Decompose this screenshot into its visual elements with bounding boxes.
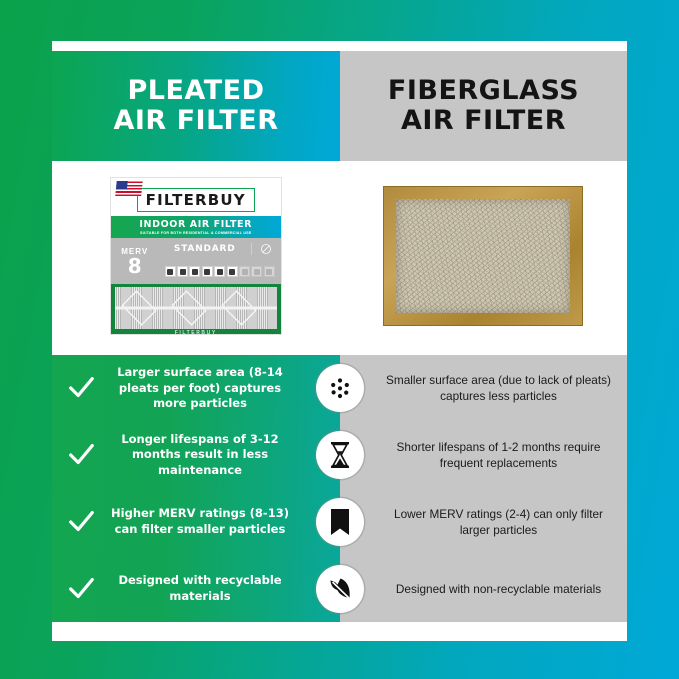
- fiberglass-product-cell: [340, 161, 628, 351]
- usa-flag-icon: [115, 181, 143, 196]
- band-subtitle: SUITABLE FOR BOTH RESIDENTIAL & COMMERCI…: [140, 231, 252, 235]
- fiberglass-media-texture: [396, 199, 570, 313]
- chip-virus: [264, 266, 275, 277]
- product-images: FILTERBUY INDOOR AIR FILTER SUITABLE FOR…: [52, 161, 627, 351]
- chip-dirt: [177, 266, 188, 277]
- header-fiberglass-line2: AIR FILTER: [401, 105, 566, 136]
- checkmark-icon: [66, 440, 96, 470]
- support-diamond: [221, 290, 257, 326]
- chip-mold: [214, 266, 225, 277]
- header-pleated-line1: PLEATED: [127, 75, 264, 106]
- table-row: Larger surface area (8-14 pleats per foo…: [52, 355, 627, 422]
- comparison-header: PLEATED AIR FILTER FIBERGLASS AIR FILTER: [52, 51, 627, 161]
- chip-dust: [165, 266, 176, 277]
- chip-lint: [227, 266, 238, 277]
- row-left-cell: Designed with recyclable materials: [52, 573, 340, 604]
- chip-pet-dander: [202, 266, 213, 277]
- header-pleated-line2: AIR FILTER: [113, 105, 278, 136]
- row-left-cell: Larger surface area (8-14 pleats per foo…: [52, 365, 340, 412]
- particles-icon: [316, 364, 364, 412]
- row-right-text: Designed with non-recyclable materials: [340, 581, 627, 597]
- header-fiberglass-title: FIBERGLASS AIR FILTER: [388, 76, 579, 136]
- comparison-table: Larger surface area (8-14 pleats per foo…: [52, 355, 627, 622]
- table-row: Designed with recyclable materials Desig…: [52, 555, 627, 622]
- table-row: Longer lifespans of 3-12 months result i…: [52, 422, 627, 489]
- pleat-texture: [115, 287, 277, 329]
- header-fiberglass-panel: FIBERGLASS AIR FILTER: [340, 51, 627, 161]
- leaf-icon: [316, 565, 364, 613]
- no-smoke-icon: [251, 243, 281, 255]
- brand-box: FILTERBUY: [137, 188, 255, 212]
- pleated-band: INDOOR AIR FILTER SUITABLE FOR BOTH RESI…: [111, 216, 281, 238]
- pleated-media: FILTERBUY: [111, 284, 281, 335]
- header-pleated-title: PLEATED AIR FILTER: [113, 76, 278, 136]
- row-right-text: Shorter lifespans of 1-2 months require …: [340, 439, 627, 471]
- allergen-chip-row: [159, 259, 281, 284]
- spec-right: STANDARD: [159, 238, 281, 284]
- pleated-product-cell: FILTERBUY INDOOR AIR FILTER SUITABLE FOR…: [52, 161, 340, 351]
- merv-badge: MERV 8: [111, 238, 159, 284]
- media-footer-brand: FILTERBUY: [111, 330, 281, 336]
- pleated-brand-header: FILTERBUY: [111, 178, 281, 216]
- checkmark-icon: [66, 507, 96, 537]
- brand-name: FILTERBUY: [146, 191, 246, 209]
- support-diamond: [171, 290, 207, 326]
- chip-bacteria: [251, 266, 262, 277]
- row-left-text: Designed with recyclable materials: [104, 573, 330, 604]
- table-row: Higher MERV ratings (8-13) can filter sm…: [52, 489, 627, 556]
- support-diamond: [121, 290, 157, 326]
- grade-label: STANDARD: [159, 244, 251, 254]
- checkmark-icon: [66, 373, 96, 403]
- checkmark-icon: [66, 574, 96, 604]
- fiberglass-filter-image: [383, 186, 583, 326]
- header-fiberglass-line1: FIBERGLASS: [388, 75, 579, 106]
- bookmark-icon: [316, 498, 364, 546]
- grade-row: STANDARD: [159, 238, 281, 259]
- row-left-cell: Higher MERV ratings (8-13) can filter sm…: [52, 506, 340, 537]
- hourglass-icon: [316, 431, 364, 479]
- row-left-text: Longer lifespans of 3-12 months result i…: [104, 432, 330, 479]
- chip-pollen: [189, 266, 200, 277]
- infographic-frame: PLEATED AIR FILTER FIBERGLASS AIR FILTER: [0, 0, 679, 679]
- row-right-text: Smaller surface area (due to lack of ple…: [340, 372, 627, 404]
- chip-smoke: [239, 266, 250, 277]
- band-title: INDOOR AIR FILTER: [139, 219, 252, 230]
- row-right-text: Lower MERV ratings (2-4) can only filter…: [340, 506, 627, 538]
- row-left-text: Higher MERV ratings (8-13) can filter sm…: [104, 506, 330, 537]
- merv-value: 8: [128, 256, 142, 276]
- pleated-spec-strip: MERV 8 STANDARD: [111, 238, 281, 284]
- content-card: PLEATED AIR FILTER FIBERGLASS AIR FILTER: [52, 41, 627, 641]
- header-pleated-panel: PLEATED AIR FILTER: [52, 51, 340, 161]
- row-left-text: Larger surface area (8-14 pleats per foo…: [104, 365, 330, 412]
- row-left-cell: Longer lifespans of 3-12 months result i…: [52, 432, 340, 479]
- pleated-filter-image: FILTERBUY INDOOR AIR FILTER SUITABLE FOR…: [110, 177, 282, 335]
